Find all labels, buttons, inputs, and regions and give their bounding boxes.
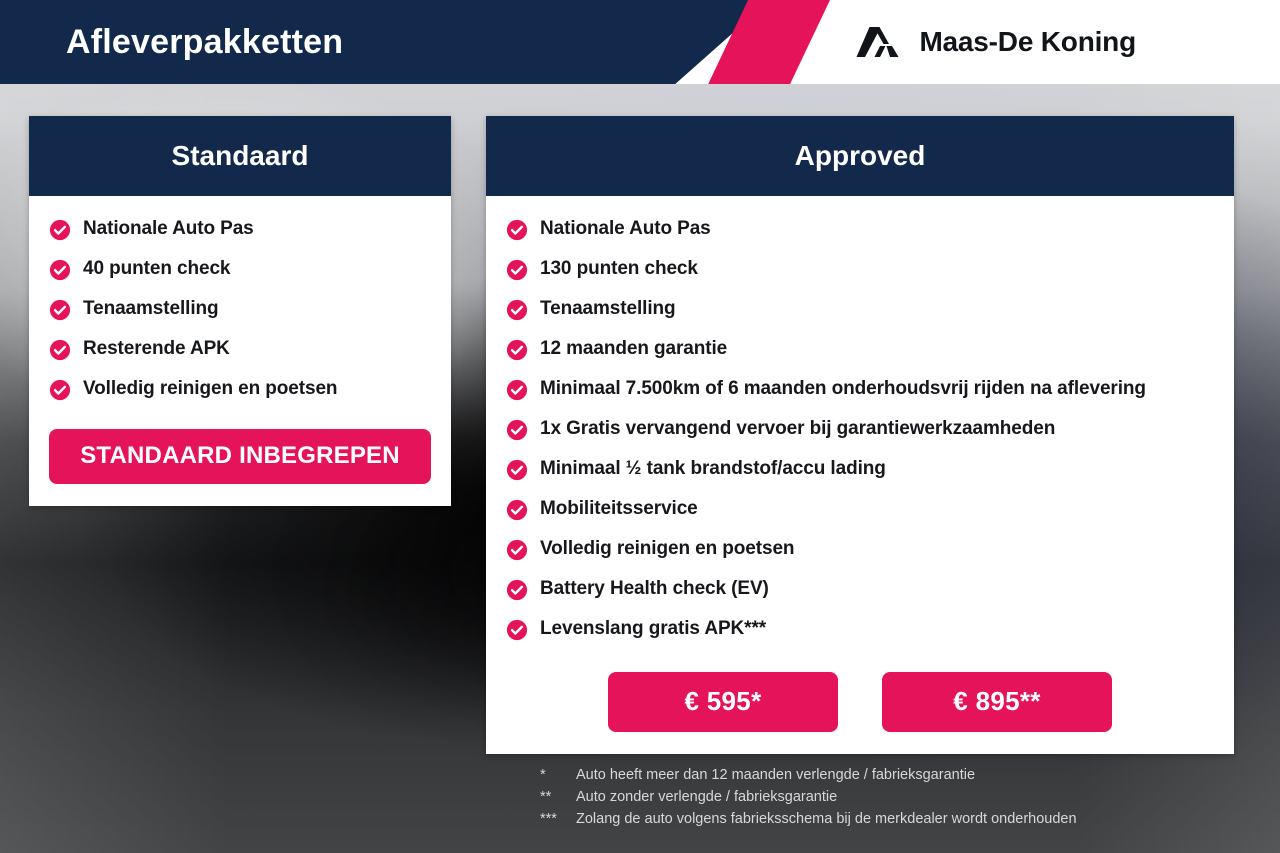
- feature-label: 130 punten check: [540, 256, 698, 283]
- list-item: Battery Health check (EV): [486, 576, 1234, 603]
- standaard-inbegrepen-button[interactable]: STANDAARD INBEGREPEN: [49, 429, 431, 484]
- footnote-marker: ***: [540, 808, 576, 830]
- feature-label: 40 punten check: [83, 256, 230, 283]
- footnote-marker: *: [540, 764, 576, 786]
- list-item: Tenaamstelling: [29, 296, 451, 323]
- check-circle-icon: [506, 459, 528, 481]
- price-button-595[interactable]: € 595*: [608, 672, 838, 732]
- list-item: Volledig reinigen en poetsen: [29, 376, 451, 403]
- check-circle-icon: [49, 339, 71, 361]
- feature-label: Volledig reinigen en poetsen: [540, 536, 794, 563]
- list-item: 130 punten check: [486, 256, 1234, 283]
- footnote-text: Auto zonder verlengde / fabrieksgarantie: [576, 786, 1240, 808]
- list-item: 12 maanden garantie: [486, 336, 1234, 363]
- feature-label: Levenslang gratis APK***: [540, 616, 766, 643]
- footnotes: * Auto heeft meer dan 12 maanden verleng…: [540, 764, 1240, 830]
- footnote-marker: **: [540, 786, 576, 808]
- standaard-button-row: STANDAARD INBEGREPEN: [29, 416, 451, 484]
- price-button-row: € 595* € 895**: [486, 656, 1234, 740]
- footnote-3: *** Zolang de auto volgens fabrieksschem…: [540, 808, 1240, 830]
- feature-label: Minimaal ½ tank brandstof/accu lading: [540, 456, 886, 483]
- check-circle-icon: [506, 499, 528, 521]
- card-title-approved: Approved: [486, 116, 1234, 196]
- poster-canvas: Afleverpakketten Maas-De Koning Standaar…: [0, 0, 1280, 853]
- feature-label: 12 maanden garantie: [540, 336, 727, 363]
- list-item: Mobiliteitsservice: [486, 496, 1234, 523]
- list-item: 40 punten check: [29, 256, 451, 283]
- page-title: Afleverpakketten: [66, 0, 343, 84]
- feature-label: Nationale Auto Pas: [540, 216, 711, 243]
- package-card-approved: Approved Nationale Auto Pas 130 punten c…: [486, 116, 1234, 754]
- feature-label: Tenaamstelling: [540, 296, 676, 323]
- list-item: Nationale Auto Pas: [486, 216, 1234, 243]
- card-body-approved: Nationale Auto Pas 130 punten check Tena…: [486, 196, 1234, 754]
- card-title-standaard: Standaard: [29, 116, 451, 196]
- check-circle-icon: [49, 259, 71, 281]
- feature-label: Nationale Auto Pas: [83, 216, 254, 243]
- check-circle-icon: [506, 419, 528, 441]
- feature-label: Tenaamstelling: [83, 296, 219, 323]
- feature-label: Resterende APK: [83, 336, 230, 363]
- footnote-text: Auto heeft meer dan 12 maanden verlengde…: [576, 764, 1240, 786]
- check-circle-icon: [506, 219, 528, 241]
- price-button-895[interactable]: € 895**: [882, 672, 1112, 732]
- list-item: Minimaal 7.500km of 6 maanden onderhouds…: [486, 376, 1234, 403]
- check-circle-icon: [49, 299, 71, 321]
- feature-label: 1x Gratis vervangend vervoer bij garanti…: [540, 416, 1055, 443]
- footnote-text: Zolang de auto volgens fabrieksschema bi…: [576, 808, 1240, 830]
- footnote-2: ** Auto zonder verlengde / fabrieksgaran…: [540, 786, 1240, 808]
- check-circle-icon: [506, 579, 528, 601]
- list-item: Levenslang gratis APK***: [486, 616, 1234, 643]
- check-circle-icon: [506, 619, 528, 641]
- check-circle-icon: [506, 259, 528, 281]
- list-item: Nationale Auto Pas: [29, 216, 451, 243]
- brand-lockup: Maas-De Koning: [856, 0, 1136, 84]
- brand-name: Maas-De Koning: [919, 26, 1136, 58]
- check-circle-icon: [506, 539, 528, 561]
- feature-label: Battery Health check (EV): [540, 576, 769, 603]
- check-circle-icon: [506, 339, 528, 361]
- list-item: Minimaal ½ tank brandstof/accu lading: [486, 456, 1234, 483]
- card-body-standaard: Nationale Auto Pas 40 punten check Tenaa…: [29, 196, 451, 506]
- feature-label: Volledig reinigen en poetsen: [83, 376, 337, 403]
- footnote-1: * Auto heeft meer dan 12 maanden verleng…: [540, 764, 1240, 786]
- feature-label: Minimaal 7.500km of 6 maanden onderhouds…: [540, 376, 1146, 403]
- mountain-m-logo-icon: [856, 25, 904, 59]
- list-item: 1x Gratis vervangend vervoer bij garanti…: [486, 416, 1234, 443]
- feature-list-standaard: Nationale Auto Pas 40 punten check Tenaa…: [29, 216, 451, 403]
- check-circle-icon: [506, 379, 528, 401]
- feature-label: Mobiliteitsservice: [540, 496, 698, 523]
- page-header: Afleverpakketten Maas-De Koning: [0, 0, 1280, 84]
- check-circle-icon: [49, 219, 71, 241]
- package-card-standaard: Standaard Nationale Auto Pas 40 punten c…: [29, 116, 451, 506]
- list-item: Tenaamstelling: [486, 296, 1234, 323]
- feature-list-approved: Nationale Auto Pas 130 punten check Tena…: [486, 216, 1234, 643]
- check-circle-icon: [49, 379, 71, 401]
- list-item: Volledig reinigen en poetsen: [486, 536, 1234, 563]
- check-circle-icon: [506, 299, 528, 321]
- list-item: Resterende APK: [29, 336, 451, 363]
